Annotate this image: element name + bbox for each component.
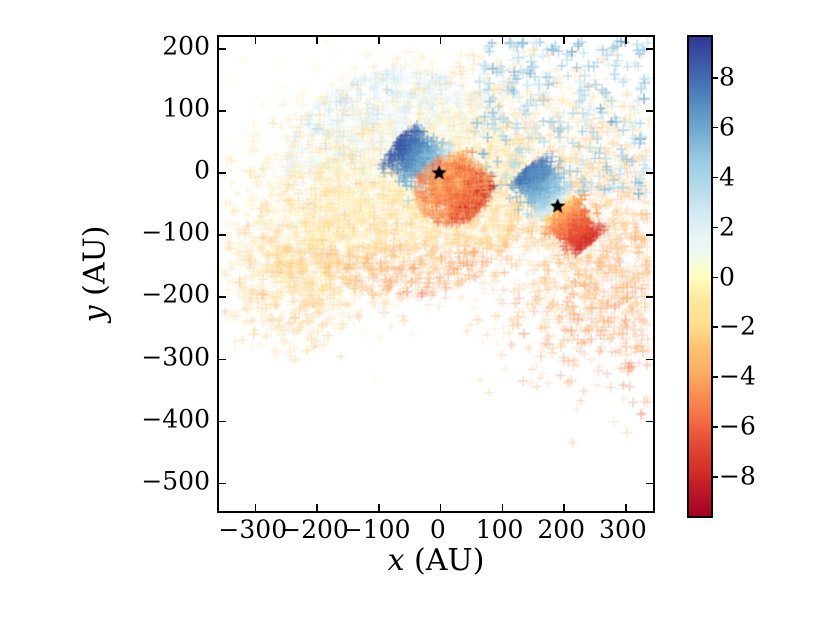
x-tick (563, 504, 565, 511)
x-tick (378, 504, 380, 511)
y-tick-label: 100 (162, 96, 210, 121)
y-tick (646, 234, 653, 236)
y-tick-label: 0 (194, 158, 210, 183)
x-axis-title: x (AU) (388, 543, 485, 578)
colorbar-tick (711, 127, 718, 129)
y-tick (219, 483, 226, 485)
colorbar-tick (711, 277, 718, 279)
colorbar-tick (711, 177, 718, 179)
y-tick (219, 359, 226, 361)
y-tick (646, 110, 653, 112)
y-tick-label: −300 (141, 344, 210, 369)
colorbar-tick (711, 476, 718, 478)
x-tick-label: −200 (280, 517, 349, 542)
y-tick (219, 234, 226, 236)
x-tick (440, 37, 442, 44)
y-tick-label: −100 (141, 220, 210, 245)
figure-canvas: −300−200−1000100200300 2001000−100−200−3… (0, 0, 830, 623)
x-tick (502, 504, 504, 511)
y-tick-label: −200 (141, 282, 210, 307)
y-axis-title: y (AU) (78, 226, 113, 323)
colorbar-tick-label: 6 (719, 114, 735, 139)
colorbar-tick-label: −4 (719, 364, 756, 389)
y-tick (219, 421, 226, 423)
x-axis-title-unit: (AU) (414, 543, 484, 578)
colorbar-tick-label: −2 (719, 314, 756, 339)
colorbar-tick-label: −8 (719, 464, 756, 489)
colorbar (687, 35, 713, 518)
y-tick (646, 421, 653, 423)
x-tick (255, 504, 257, 511)
y-tick-label: 200 (162, 34, 210, 59)
colorbar-tick (711, 326, 718, 328)
x-tick-label: −100 (342, 517, 411, 542)
colorbar-tick-label: −6 (719, 414, 756, 439)
x-tick (625, 504, 627, 511)
x-tick (625, 37, 627, 44)
colorbar-tick-label: 2 (719, 214, 735, 239)
y-tick-labels: 2001000−100−200−300−400−500 (110, 0, 210, 623)
x-tick (440, 504, 442, 511)
y-tick (646, 296, 653, 298)
x-tick (563, 37, 565, 44)
y-tick (646, 483, 653, 485)
y-tick (219, 296, 226, 298)
y-tick (219, 110, 226, 112)
x-tick (502, 37, 504, 44)
y-tick-label: −500 (141, 468, 210, 493)
x-tick (316, 37, 318, 44)
y-axis-title-symbol: y (78, 305, 113, 322)
y-tick (646, 359, 653, 361)
y-tick (219, 172, 226, 174)
colorbar-tick (711, 426, 718, 428)
colorbar-tick-label: 4 (719, 164, 735, 189)
x-tick (378, 37, 380, 44)
colorbar-tick-label: 8 (719, 64, 735, 89)
plot-axes (217, 35, 655, 513)
colorbar-tick (711, 376, 718, 378)
x-tick (255, 37, 257, 44)
y-tick-label: −400 (141, 406, 210, 431)
x-tick (316, 504, 318, 511)
x-tick-label: 200 (537, 517, 585, 542)
x-tick-label: 300 (599, 517, 647, 542)
x-tick-label: 0 (430, 517, 446, 542)
y-tick (646, 172, 653, 174)
colorbar-tick (711, 77, 718, 79)
scatter-plot-canvas (219, 37, 653, 511)
y-tick (219, 48, 226, 50)
x-tick-label: −300 (218, 517, 287, 542)
x-tick-label: 100 (476, 517, 524, 542)
y-tick (646, 48, 653, 50)
y-axis-title-unit: (AU) (78, 226, 113, 296)
colorbar-tick (711, 227, 718, 229)
x-axis-title-symbol: x (388, 543, 405, 578)
colorbar-tick-label: 0 (719, 264, 735, 289)
